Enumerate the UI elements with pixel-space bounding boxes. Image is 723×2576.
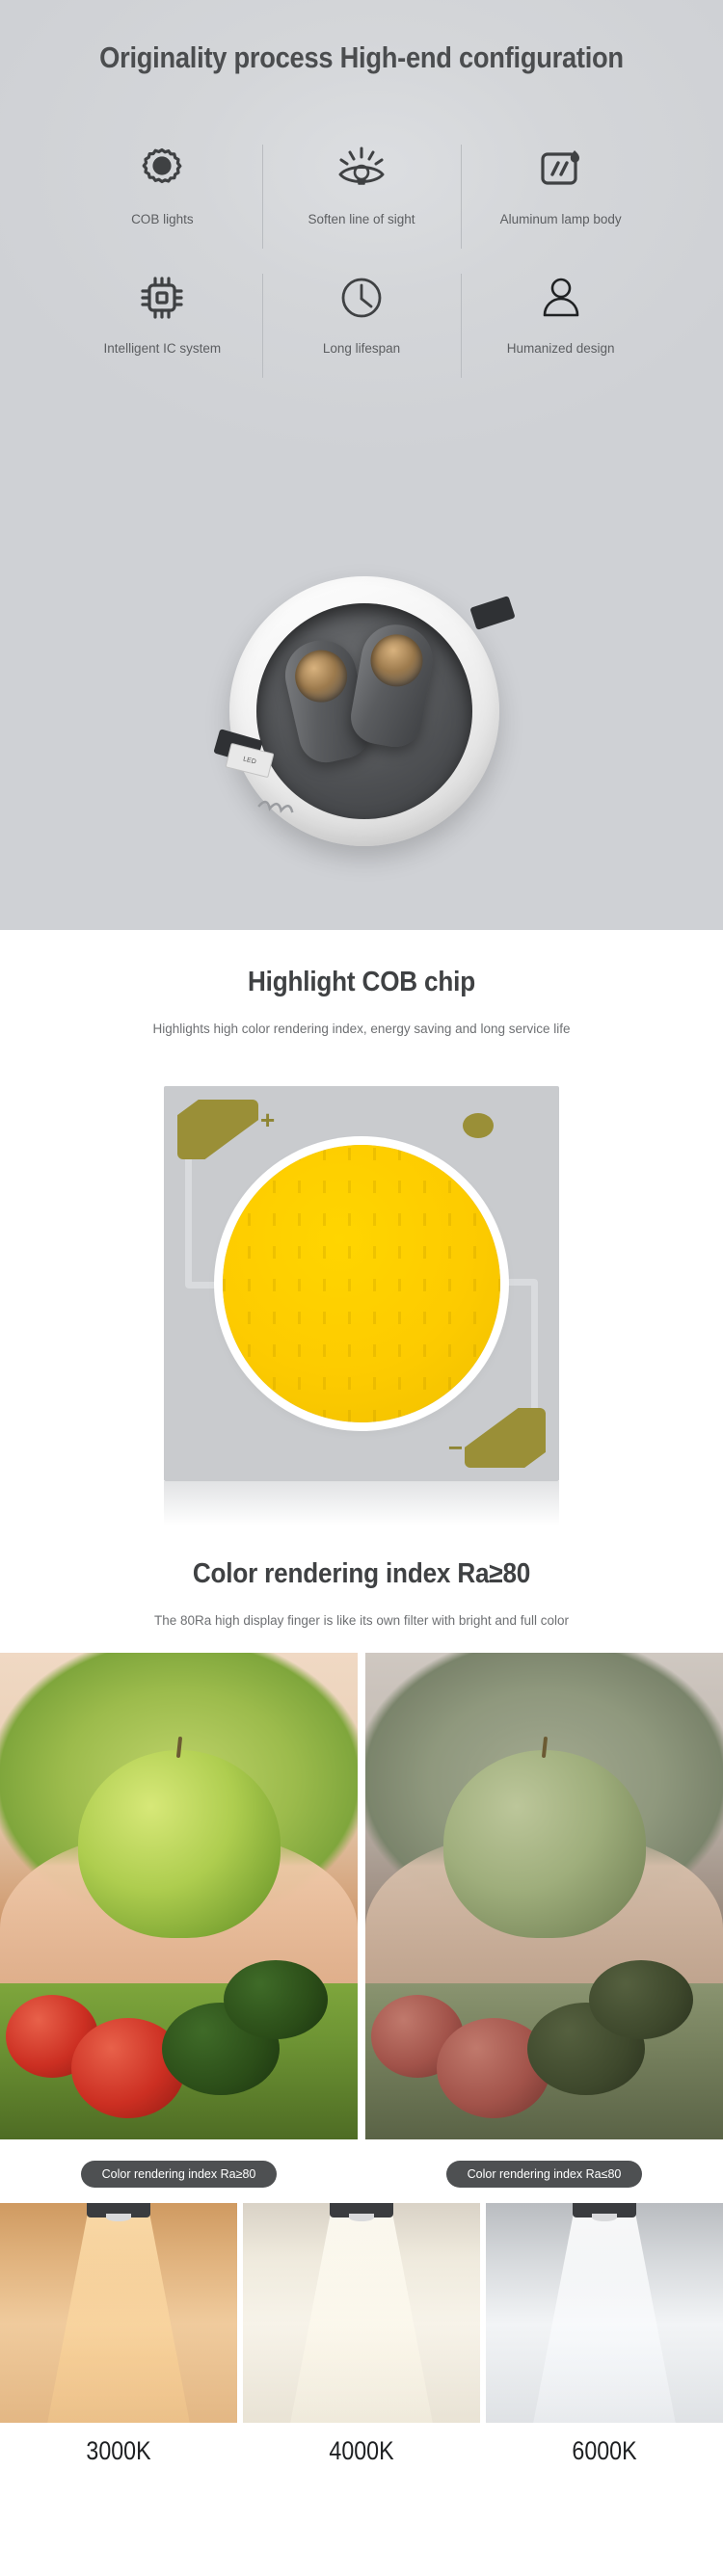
cct-photo (243, 2203, 480, 2423)
cob-section-subtitle: Highlights high color rendering index, e… (0, 1022, 723, 1036)
cri-section-title: Color rendering index Ra≥80 (37, 1558, 687, 1590)
light-cone (517, 2203, 692, 2423)
feature-item-soften-line-of-sight: Soften line of sight (262, 135, 462, 264)
mounting-clip-right (469, 596, 515, 630)
eye-light-icon (335, 139, 388, 199)
ic-chip-icon (138, 268, 186, 328)
cri-photo-dull (365, 1653, 723, 2139)
chip-pad-dot (463, 1113, 494, 1138)
chip-phosphor-emitter (223, 1145, 500, 1422)
chip-reflection (164, 1481, 559, 1526)
avocado (589, 1960, 693, 2039)
feature-item-long-lifespan: Long lifespan (262, 264, 462, 393)
cob-chip-section: Highlight COB chip Highlights high color… (0, 930, 723, 1526)
green-apple (443, 1750, 646, 1938)
lamp-lens-right (366, 630, 427, 691)
chip-plus-sign: + (260, 1107, 275, 1132)
recessed-downlight-illustration: LED (202, 559, 521, 877)
feature-label: Humanized design (507, 339, 615, 359)
feature-item-cob-lights: COB lights (63, 135, 262, 264)
page-title: Originality process High-end configurati… (43, 0, 680, 75)
cri-badges: Color rendering index Ra≥80 Color render… (0, 2139, 723, 2203)
badge-column: Color rendering index Ra≥80 (0, 2161, 358, 2188)
cct-photo (0, 2203, 237, 2423)
feature-label: Intelligent IC system (104, 339, 222, 359)
cct-photo (486, 2203, 723, 2423)
cct-cell-4000k (243, 2203, 480, 2423)
feature-item-humanized-design: Humanized design (461, 264, 660, 393)
feature-label: Aluminum lamp body (500, 210, 622, 229)
cct-label-row: 3000K 4000K 6000K (0, 2423, 723, 2487)
hero-section: Originality process High-end configurati… (0, 0, 723, 930)
product-photo: LED (0, 525, 723, 911)
cct-label-4000k: 4000K (259, 2436, 464, 2466)
ceiling-lamp-icon (573, 2203, 636, 2217)
green-apple (78, 1750, 281, 1938)
badge-column: Color rendering index Ra≤80 (365, 2161, 723, 2188)
cct-cell-3000k (0, 2203, 237, 2423)
status-badge-ra-high: Color rendering index Ra≥80 (81, 2161, 278, 2188)
cri-photo-vivid (0, 1653, 358, 2139)
cct-image-row (0, 2203, 723, 2423)
chip-substrate: + − (164, 1086, 559, 1481)
cri-section: Color rendering index Ra≥80 The 80Ra hig… (0, 1526, 723, 2203)
feature-label: COB lights (131, 210, 194, 229)
ceiling-lamp-icon (87, 2203, 150, 2217)
feature-label: Soften line of sight (308, 210, 415, 229)
feature-item-intelligent-ic-system: Intelligent IC system (63, 264, 262, 393)
cct-cell-6000k (486, 2203, 723, 2423)
light-cone (31, 2203, 206, 2423)
light-cone (274, 2203, 449, 2423)
clock-icon (337, 268, 386, 328)
heat-sink-icon (537, 139, 585, 199)
cob-section-title: Highlight COB chip (37, 967, 687, 998)
cct-label-6000k: 6000K (502, 2436, 707, 2466)
cri-section-subtitle: The 80Ra high display finger is like its… (0, 1613, 723, 1628)
cct-label-3000k: 3000K (16, 2436, 221, 2466)
lamp-lens-left (290, 645, 353, 707)
cob-gear-icon (138, 139, 186, 199)
avocado (224, 1960, 328, 2039)
status-badge-ra-low: Color rendering index Ra≤80 (446, 2161, 643, 2188)
feature-item-aluminum-lamp-body: Aluminum lamp body (461, 135, 660, 264)
chip-led-array (223, 1145, 500, 1422)
person-icon (537, 268, 585, 328)
chip-minus-sign: − (448, 1435, 463, 1460)
feature-grid: COB lights (63, 135, 660, 393)
ceiling-lamp-icon (330, 2203, 393, 2217)
feature-label: Long lifespan (323, 339, 400, 359)
cri-comparison-photos (0, 1653, 723, 2139)
cob-chip-image: + − (164, 1086, 559, 1526)
cct-section: 3000K 4000K 6000K (0, 2203, 723, 2487)
